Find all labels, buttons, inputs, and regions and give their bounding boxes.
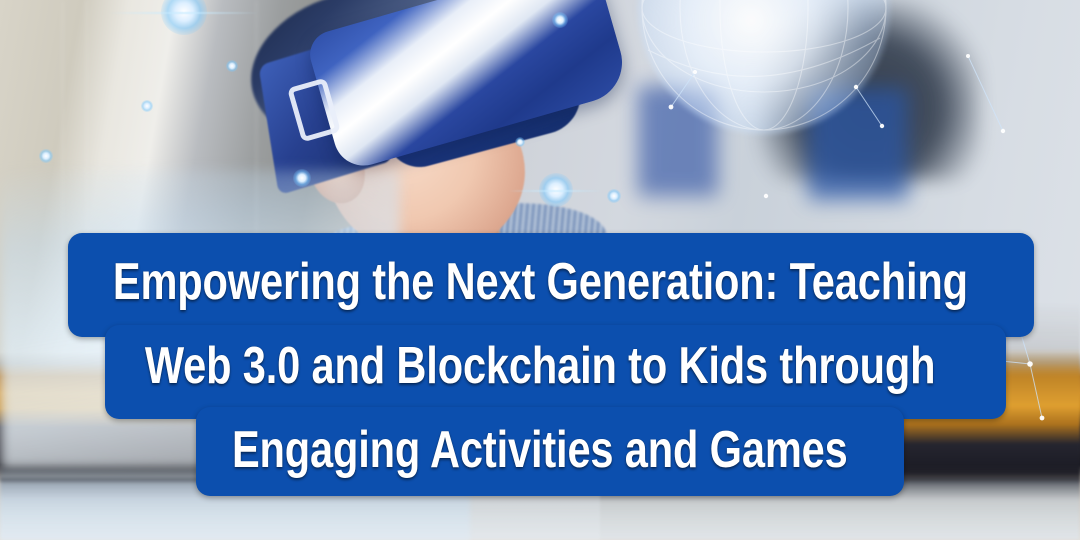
lens-flare-icon	[515, 137, 525, 147]
lens-flare-icon	[607, 189, 621, 203]
lens-flare-icon	[161, 0, 207, 35]
lens-flare-icon	[552, 12, 568, 28]
lens-flare-icon	[226, 60, 238, 72]
lens-flare-beam-icon	[508, 190, 604, 192]
lens-flare-icon	[293, 169, 311, 187]
lens-flare-icon	[39, 149, 53, 163]
hero-banner: Empowering the Next Generation: Teaching…	[0, 0, 1080, 540]
lens-flare-icon	[141, 100, 153, 112]
title-line-3: Engaging Activities and Games	[232, 408, 848, 492]
title-line-2: Web 3.0 and Blockchain to Kids through	[145, 324, 936, 408]
title-line-1: Empowering the Next Generation: Teaching	[113, 240, 968, 324]
lens-flare-beam-icon	[109, 12, 259, 14]
